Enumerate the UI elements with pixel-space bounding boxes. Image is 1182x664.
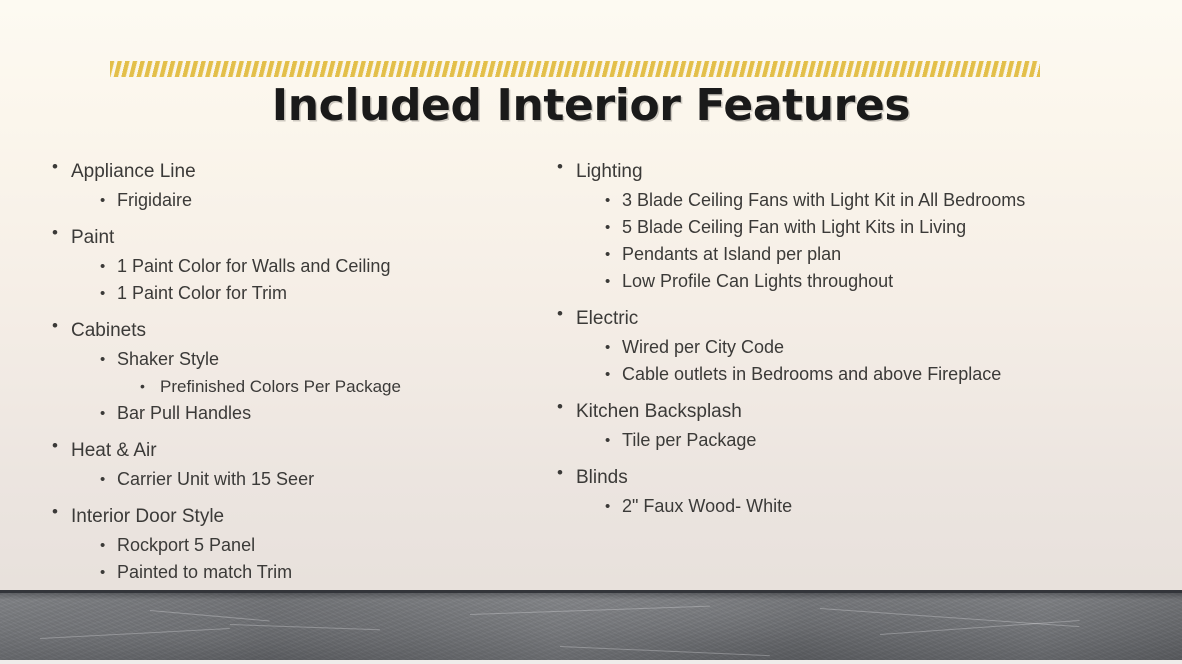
bullet-marker-icon: • (557, 392, 563, 422)
bullet-item-level-2: •Pendants at Island per plan (549, 241, 1069, 268)
bullet-list-right-column: •Lighting•3 Blade Ceiling Fans with Ligh… (549, 152, 1069, 520)
stone-scratch (470, 606, 710, 615)
bullet-marker-icon: • (557, 299, 563, 329)
bullet-item-level-1: •Paint (44, 218, 514, 253)
bullet-item-label: Appliance Line (71, 157, 196, 187)
bullet-item-level-1: •Kitchen Backsplash (549, 392, 1069, 427)
bullet-item-label: 1 Paint Color for Walls and Ceiling (117, 253, 390, 280)
bullet-item-label: Electric (576, 304, 638, 334)
bullet-marker-icon: • (100, 280, 105, 307)
bullet-marker-icon: • (100, 532, 105, 559)
bullet-item-level-2: •Tile per Package (549, 427, 1069, 454)
bullet-marker-icon: • (100, 400, 105, 427)
bullet-marker-icon: • (52, 497, 58, 527)
bullet-item-label: Blinds (576, 463, 628, 493)
bullet-item-level-2: •1 Paint Color for Walls and Ceiling (44, 253, 514, 280)
bullet-marker-icon: • (140, 373, 145, 400)
bullet-item-level-2: •1 Paint Color for Trim (44, 280, 514, 307)
bullet-item-level-2: •Cable outlets in Bedrooms and above Fir… (549, 361, 1069, 388)
bullet-item-label: Heat & Air (71, 436, 157, 466)
stone-scratch (40, 628, 230, 639)
stone-band-top-edge (0, 590, 1182, 593)
bullet-item-level-1: •Interior Door Style (44, 497, 514, 532)
slide-body: •Appliance Line•Frigidaire•Paint•1 Paint… (0, 152, 1182, 572)
bullet-marker-icon: • (605, 187, 610, 214)
presentation-slide: Included Interior Features •Appliance Li… (0, 0, 1182, 664)
decorative-striped-bar (110, 61, 1040, 77)
bullet-item-label: Tile per Package (622, 427, 756, 454)
bullet-item-level-1: •Appliance Line (44, 152, 514, 187)
bullet-marker-icon: • (52, 311, 58, 341)
bullet-item-level-2: •3 Blade Ceiling Fans with Light Kit in … (549, 187, 1069, 214)
bullet-item-level-2: •Painted to match Trim (44, 559, 514, 586)
bullet-marker-icon: • (100, 253, 105, 280)
bullet-item-label: Cable outlets in Bedrooms and above Fire… (622, 361, 1001, 388)
bullet-item-label: Lighting (576, 157, 643, 187)
stone-texture-band (0, 590, 1182, 660)
bullet-item-level-2: •Low Profile Can Lights throughout (549, 268, 1069, 295)
bullet-marker-icon: • (52, 218, 58, 248)
bullet-item-label: Interior Door Style (71, 502, 224, 532)
bullet-marker-icon: • (605, 361, 610, 388)
bullet-item-label: Paint (71, 223, 114, 253)
bullet-item-level-3: •Prefinished Colors Per Package (44, 373, 514, 400)
stone-scratch (230, 624, 380, 630)
bullet-item-label: Low Profile Can Lights throughout (622, 268, 893, 295)
bullet-item-level-2: •Rockport 5 Panel (44, 532, 514, 559)
bullet-marker-icon: • (605, 334, 610, 361)
bullet-item-level-2: •5 Blade Ceiling Fan with Light Kits in … (549, 214, 1069, 241)
bullet-marker-icon: • (52, 431, 58, 461)
stone-scratch (150, 610, 270, 621)
bullet-marker-icon: • (100, 559, 105, 586)
bullet-item-label: Painted to match Trim (117, 559, 292, 586)
stone-scratch (560, 646, 770, 656)
bullet-marker-icon: • (100, 187, 105, 214)
bullet-marker-icon: • (605, 493, 610, 520)
bullet-item-level-2: •Carrier Unit with 15 Seer (44, 466, 514, 493)
bullet-item-label: 5 Blade Ceiling Fan with Light Kits in L… (622, 214, 966, 241)
bullet-item-level-1: •Lighting (549, 152, 1069, 187)
bullet-item-label: Rockport 5 Panel (117, 532, 255, 559)
stone-scratch (880, 620, 1080, 635)
bullet-marker-icon: • (52, 152, 58, 182)
bullet-marker-icon: • (100, 346, 105, 373)
bullet-item-level-2: •2" Faux Wood- White (549, 493, 1069, 520)
bullet-item-level-1: •Blinds (549, 458, 1069, 493)
bullet-item-level-1: •Electric (549, 299, 1069, 334)
bullet-item-label: Shaker Style (117, 346, 219, 373)
bullet-marker-icon: • (557, 458, 563, 488)
bullet-item-label: 3 Blade Ceiling Fans with Light Kit in A… (622, 187, 1025, 214)
bullet-item-label: Frigidaire (117, 187, 192, 214)
bullet-item-label: 2" Faux Wood- White (622, 493, 792, 520)
bullet-marker-icon: • (605, 427, 610, 454)
bullet-list-left-column: •Appliance Line•Frigidaire•Paint•1 Paint… (44, 152, 514, 586)
slide-title: Included Interior Features (0, 80, 1182, 131)
bullet-item-label: Prefinished Colors Per Package (160, 373, 401, 400)
bullet-item-level-2: •Frigidaire (44, 187, 514, 214)
bullet-item-label: 1 Paint Color for Trim (117, 280, 287, 307)
stone-scratch (820, 608, 1079, 627)
bullet-item-level-2: •Shaker Style (44, 346, 514, 373)
bullet-item-label: Carrier Unit with 15 Seer (117, 466, 314, 493)
bullet-item-label: Bar Pull Handles (117, 400, 251, 427)
bullet-item-label: Wired per City Code (622, 334, 784, 361)
bullet-item-level-2: •Bar Pull Handles (44, 400, 514, 427)
bullet-item-label: Cabinets (71, 316, 146, 346)
bullet-marker-icon: • (605, 241, 610, 268)
bullet-item-level-2: •Wired per City Code (549, 334, 1069, 361)
bullet-item-level-1: •Heat & Air (44, 431, 514, 466)
bullet-marker-icon: • (605, 268, 610, 295)
bullet-marker-icon: • (557, 152, 563, 182)
slide-bottom-strip (0, 660, 1182, 664)
bullet-item-label: Kitchen Backsplash (576, 397, 742, 427)
bullet-item-label: Pendants at Island per plan (622, 241, 841, 268)
bullet-marker-icon: • (605, 214, 610, 241)
bullet-marker-icon: • (100, 466, 105, 493)
bullet-item-level-1: •Cabinets (44, 311, 514, 346)
